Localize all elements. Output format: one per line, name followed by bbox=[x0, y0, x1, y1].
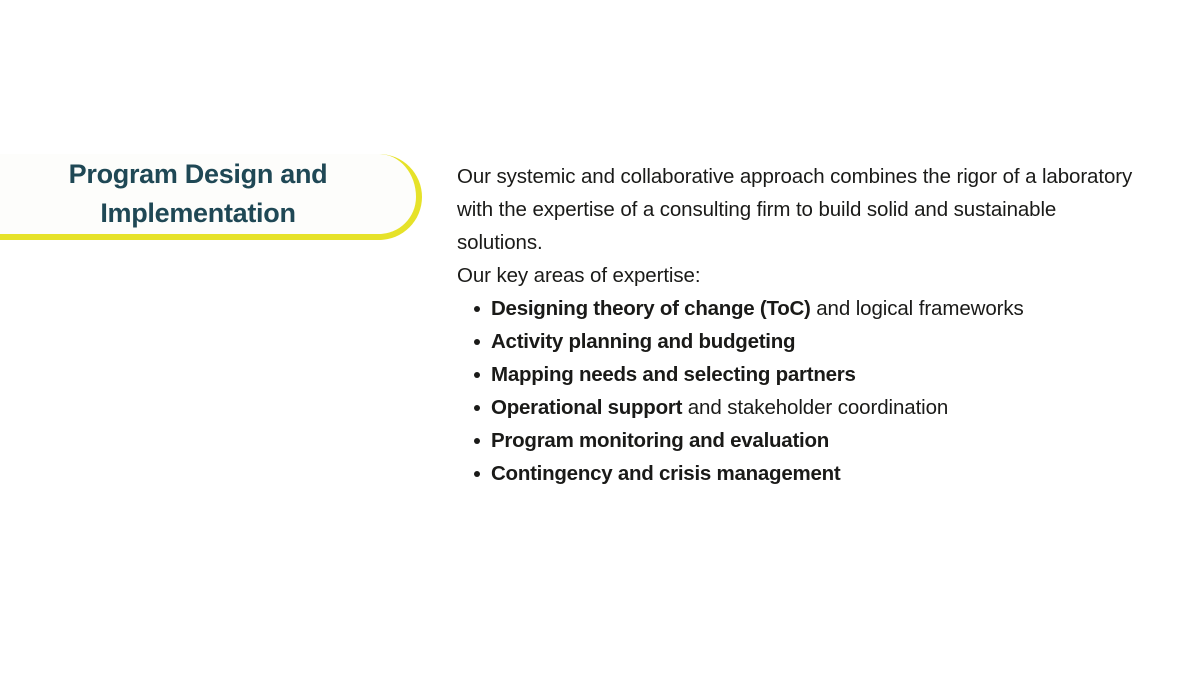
list-item: Mapping needs and selecting partners bbox=[457, 358, 1147, 391]
list-item-bold: Activity planning and budgeting bbox=[491, 330, 795, 353]
title-card: Program Design and Implementation bbox=[0, 154, 422, 240]
intro-block: Our systemic and collaborative approach … bbox=[457, 160, 1147, 292]
list-item: Program monitoring and evaluation bbox=[457, 424, 1147, 457]
list-item-bold: Mapping needs and selecting partners bbox=[491, 363, 856, 386]
intro-subheading: Our key areas of expertise: bbox=[457, 259, 1147, 292]
list-item: Activity planning and budgeting bbox=[457, 325, 1147, 358]
list-item-bold: Program monitoring and evaluation bbox=[491, 429, 829, 452]
title-card-inner: Program Design and Implementation bbox=[0, 155, 416, 233]
intro-paragraph: Our systemic and collaborative approach … bbox=[457, 160, 1137, 259]
list-item-bold: Operational support bbox=[491, 396, 682, 419]
list-item-rest: and stakeholder coordination bbox=[682, 396, 948, 419]
expertise-list: Designing theory of change (ToC) and log… bbox=[457, 292, 1147, 490]
list-item-bold: Designing theory of change (ToC) bbox=[491, 297, 811, 320]
list-item: Designing theory of change (ToC) and log… bbox=[457, 292, 1147, 325]
page-title: Program Design and Implementation bbox=[0, 155, 398, 233]
list-item-bold: Contingency and crisis management bbox=[491, 462, 840, 485]
list-item: Contingency and crisis management bbox=[457, 457, 1147, 490]
list-item-rest: and logical frameworks bbox=[811, 297, 1024, 320]
list-item: Operational support and stakeholder coor… bbox=[457, 391, 1147, 424]
content-column: Our systemic and collaborative approach … bbox=[457, 160, 1147, 490]
